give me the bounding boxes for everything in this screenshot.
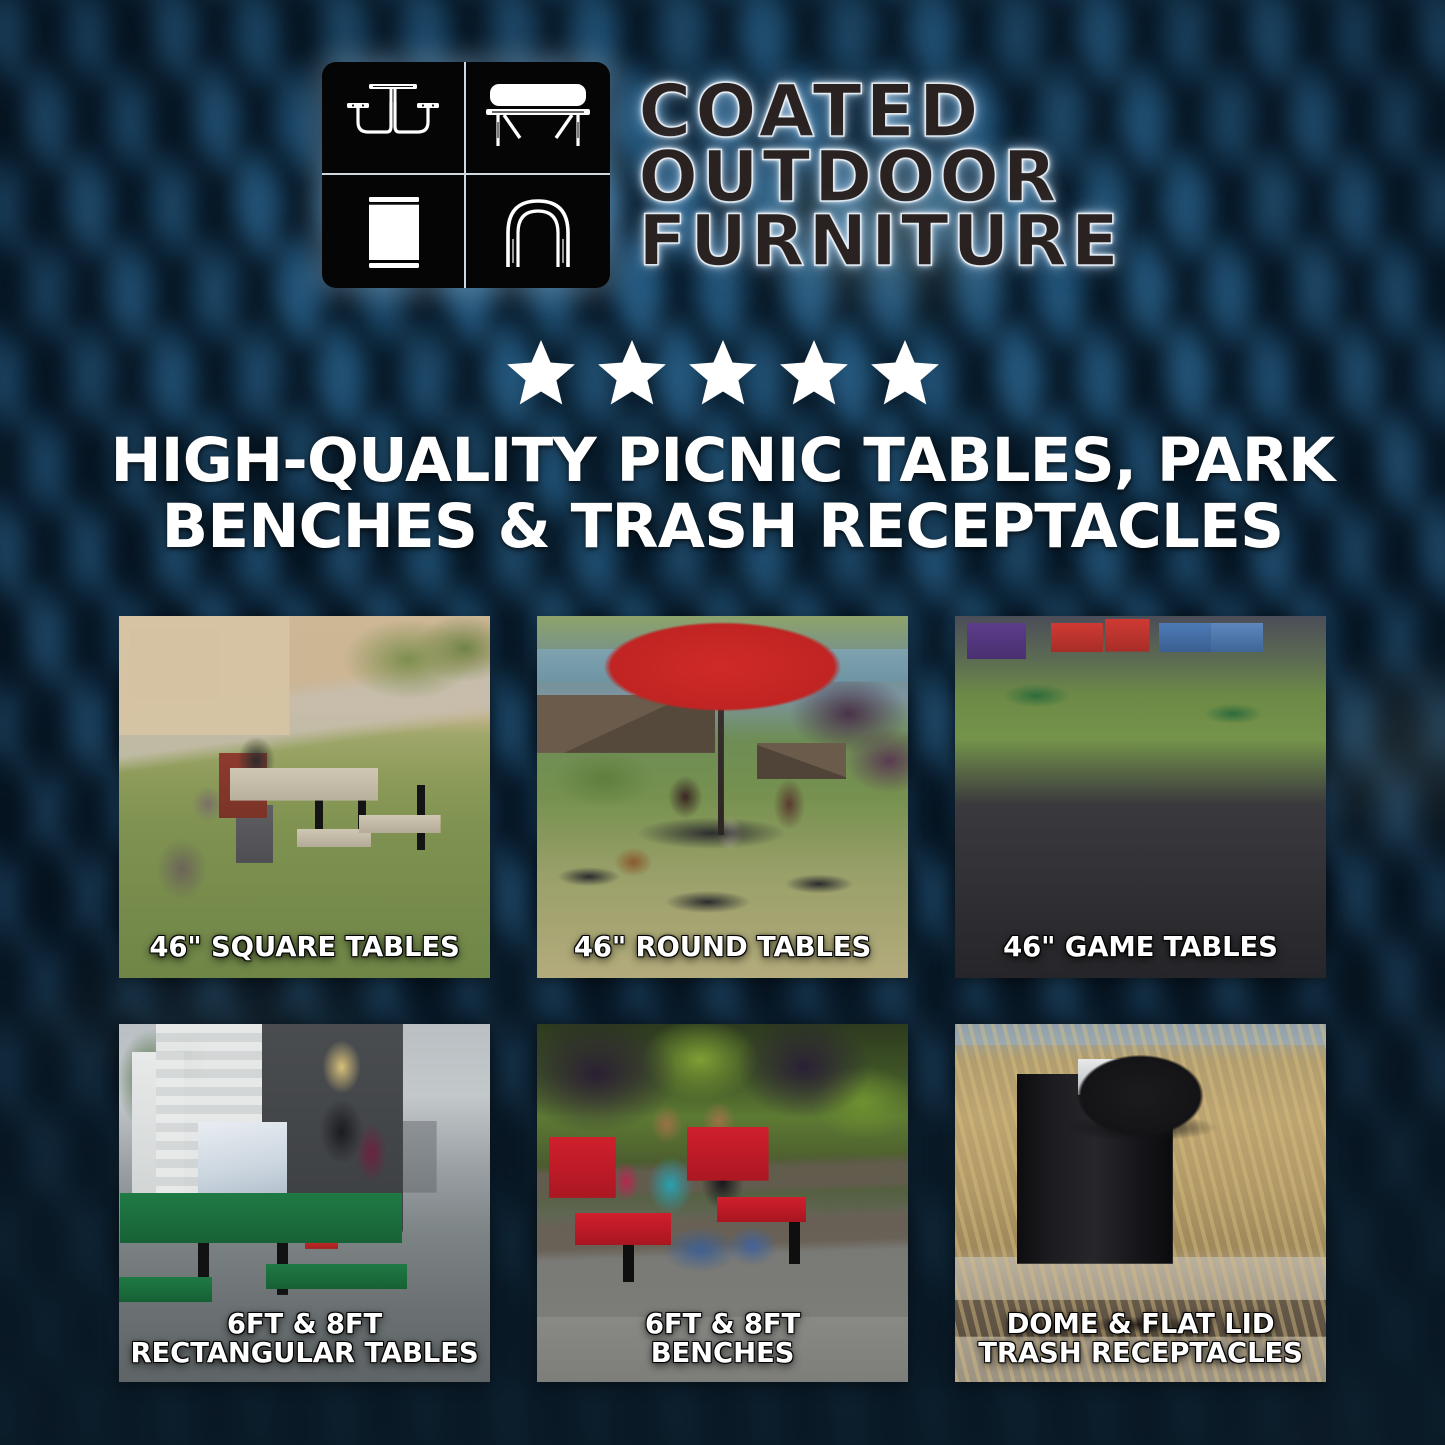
star-icon-4: [776, 336, 852, 410]
product-grid: 46" SQUARE TABLES 46" ROUND TABLES 46" G…: [119, 616, 1327, 1382]
caption-line-2: TRASH RECEPTACLES: [961, 1339, 1320, 1368]
brand-wordmark: COATED OUTDOOR FURNITURE: [638, 78, 1122, 273]
logo-mark: [322, 62, 610, 288]
picnic-table-front-icon: [322, 62, 466, 175]
product-tile-rectangular-tables[interactable]: 6FT & 8FT RECTANGULAR TABLES: [119, 1024, 490, 1382]
brand-line-1: COATED: [638, 78, 982, 144]
caption-line-1: DOME & FLAT LID: [961, 1310, 1320, 1339]
caption-line-1: 46" GAME TABLES: [961, 933, 1320, 962]
product-caption-trash-receptacles: DOME & FLAT LID TRASH RECEPTACLES: [961, 1310, 1320, 1368]
product-tile-game-tables[interactable]: 46" GAME TABLES: [955, 616, 1326, 978]
product-tile-benches[interactable]: 6FT & 8FT BENCHES: [537, 1024, 908, 1382]
star-icon-2: [594, 336, 670, 410]
product-caption-square-tables: 46" SQUARE TABLES: [125, 933, 484, 962]
brand-logo-row: COATED OUTDOOR FURNITURE: [0, 62, 1445, 288]
caption-line-1: 46" SQUARE TABLES: [125, 933, 484, 962]
caption-line-2: BENCHES: [543, 1339, 902, 1368]
product-photo-game-tables: [955, 616, 1326, 978]
product-caption-benches: 6FT & 8FT BENCHES: [543, 1310, 902, 1368]
headline-line-2: BENCHES & TRASH RECEPTACLES: [60, 494, 1385, 560]
product-caption-game-tables: 46" GAME TABLES: [961, 933, 1320, 962]
bench-side-icon: [466, 62, 610, 175]
product-photo-round-tables: [537, 616, 908, 978]
product-photo-square-tables: [119, 616, 490, 978]
arch-bike-rack-icon: [466, 175, 610, 288]
brand-line-3: FURNITURE: [638, 209, 1122, 273]
caption-line-1: 6FT & 8FT: [543, 1310, 902, 1339]
star-rating: [0, 336, 1445, 410]
trash-receptacle-icon: [322, 175, 466, 288]
star-icon-5: [867, 336, 943, 410]
product-caption-rectangular-tables: 6FT & 8FT RECTANGULAR TABLES: [125, 1310, 484, 1368]
caption-line-2: RECTANGULAR TABLES: [125, 1339, 484, 1368]
product-tile-trash-receptacles[interactable]: DOME & FLAT LID TRASH RECEPTACLES: [955, 1024, 1326, 1382]
product-tile-round-tables[interactable]: 46" ROUND TABLES: [537, 616, 908, 978]
headline-line-1: HIGH-QUALITY PICNIC TABLES, PARK: [110, 425, 1334, 496]
star-icon-3: [685, 336, 761, 410]
product-tile-square-tables[interactable]: 46" SQUARE TABLES: [119, 616, 490, 978]
caption-line-1: 6FT & 8FT: [125, 1310, 484, 1339]
promo-poster: COATED OUTDOOR FURNITURE HIGH-QUALITY PI…: [0, 0, 1445, 1445]
star-icon-1: [503, 336, 579, 410]
headline: HIGH-QUALITY PICNIC TABLES, PARK BENCHES…: [60, 428, 1385, 560]
product-caption-round-tables: 46" ROUND TABLES: [543, 933, 902, 962]
caption-line-1: 46" ROUND TABLES: [543, 933, 902, 962]
